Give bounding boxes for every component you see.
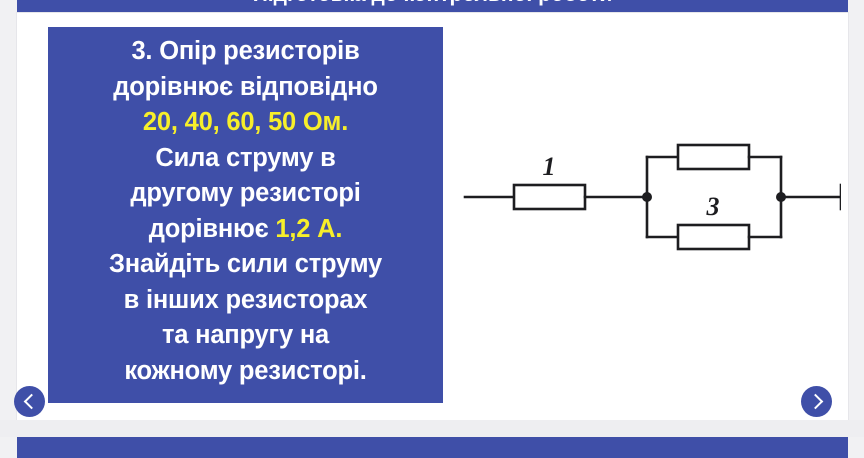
problem-line: та напругу на	[56, 318, 435, 354]
problem-line-text: дорівнює відповідно	[113, 73, 378, 101]
problem-line-text: Сила струму в	[155, 144, 335, 172]
problem-line-text: та напругу на	[162, 321, 329, 349]
problem-line: другому резисторі	[56, 176, 435, 212]
current-value: 1,2 А.	[275, 215, 342, 243]
chevron-right-icon	[807, 394, 823, 410]
resistor-2-body	[678, 145, 749, 169]
chevron-left-icon	[23, 394, 39, 410]
problem-line-text: 3. Опір резисторів	[131, 37, 359, 65]
problem-statement-panel: 3. Опір резисторів дорівнює відповідно 2…	[48, 27, 443, 403]
resistor-3-label: 3	[706, 192, 720, 221]
problem-line: Сила струму в	[56, 141, 435, 177]
circuit-schematic-svg: 1 2 3 4	[451, 135, 841, 260]
slide-viewer: Підготовка до контрольної роботи 3. Опір…	[0, 0, 864, 458]
resistor-3-body	[678, 225, 749, 249]
presentation-title: Підготовка до контрольної роботи	[17, 0, 848, 8]
next-slide-button[interactable]	[801, 386, 832, 417]
presentation-title-banner: Підготовка до контрольної роботи	[17, 0, 848, 12]
problem-line: 3. Опір резисторів	[56, 34, 435, 70]
problem-line: Знайдіть сили струму	[56, 247, 435, 283]
resistance-values: 20, 40, 60, 50 Ом.	[143, 108, 348, 136]
problem-line: дорівнює відповідно	[56, 70, 435, 106]
prev-slide-button[interactable]	[14, 386, 45, 417]
slide-gap-strip	[0, 420, 864, 437]
slide-canvas: 3. Опір резисторів дорівнює відповідно 2…	[17, 13, 848, 420]
problem-line-text: Знайдіть сили струму	[109, 250, 382, 278]
resistor-2-label: 2	[706, 135, 720, 141]
junction-node-left	[642, 192, 652, 202]
problem-line-text: кожному резисторі.	[124, 357, 366, 385]
circuit-diagram: 1 2 3 4	[451, 17, 841, 387]
resistor-1-body	[514, 185, 585, 209]
problem-line-current: дорівнює 1,2 А.	[56, 212, 435, 248]
junction-node-right	[776, 192, 786, 202]
problem-line-text: дорівнює	[149, 215, 276, 243]
problem-line-text: в інших резисторах	[124, 286, 368, 314]
problem-line: кожному резисторі.	[56, 354, 435, 390]
resistor-1-label: 1	[543, 152, 556, 181]
problem-line-resistances: 20, 40, 60, 50 Ом.	[56, 105, 435, 141]
next-slide-banner	[17, 437, 848, 458]
problem-line: в інших резисторах	[56, 283, 435, 319]
problem-line-text: другому резисторі	[130, 179, 360, 207]
